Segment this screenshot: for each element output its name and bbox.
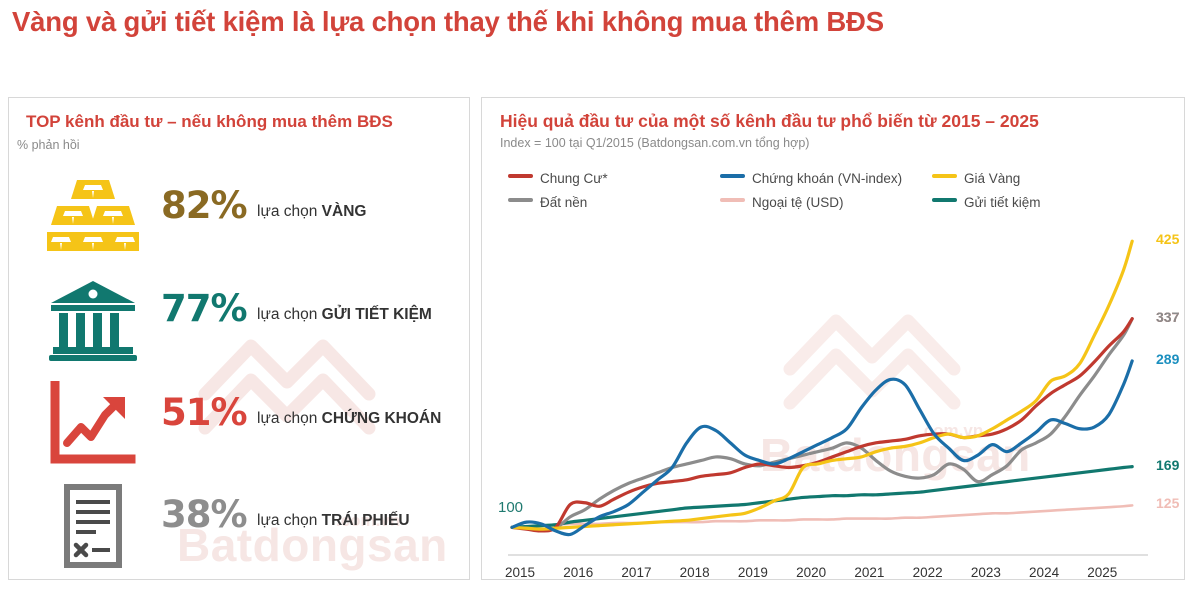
x-axis-tick-label: 2023 (956, 565, 1016, 580)
stat-channel: VÀNG (322, 203, 367, 220)
x-axis-tick-label: 2022 (898, 565, 958, 580)
stat-label: lựa chọn CHỨNG KHOÁN (257, 410, 441, 428)
gold-bars-icon (47, 174, 139, 262)
chart-series-line (512, 319, 1132, 531)
stat-label: lựa chọn TRÁI PHIẾU (257, 512, 410, 530)
left-panel-subtitle: % phản hồi (17, 138, 80, 152)
x-axis-tick-label: 2018 (665, 565, 725, 580)
list-item: 38% lựa chọn TRÁI PHIẾU (9, 483, 470, 580)
x-axis-tick-label: 2015 (490, 565, 550, 580)
stat-percent: 77% (161, 287, 247, 330)
list-item: 77% lựa chọn GỬI TIẾT KIỆM (9, 277, 470, 375)
stat-prefix: lựa chọn (257, 306, 322, 323)
list-item: 82% lựa chọn VÀNG (9, 174, 470, 272)
stat-channel: GỬI TIẾT KIỆM (322, 306, 432, 323)
chart-series-line (512, 319, 1132, 530)
stat-channel: CHỨNG KHOÁN (322, 410, 442, 427)
page-title: Vàng và gửi tiết kiệm là lựa chọn thay t… (12, 6, 1182, 38)
x-axis-tick-label: 2024 (1014, 565, 1074, 580)
stat-prefix: lựa chọn (257, 512, 322, 529)
series-end-value: 169 (1156, 457, 1179, 473)
infographic-page: Vàng và gửi tiết kiệm là lựa chọn thay t… (0, 0, 1193, 591)
stat-label: lựa chọn GỬI TIẾT KIỆM (257, 306, 432, 324)
chart-series-line (512, 361, 1132, 535)
stock-chart-icon (47, 381, 139, 469)
stat-prefix: lựa chọn (257, 203, 322, 220)
stat-prefix: lựa chọn (257, 410, 322, 427)
x-axis-tick-label: 2021 (839, 565, 899, 580)
bank-icon (47, 277, 139, 365)
stat-channel: TRÁI PHIẾU (322, 512, 410, 529)
stat-percent: 51% (161, 391, 247, 434)
series-end-value: 289 (1156, 351, 1179, 367)
x-axis-tick-label: 2016 (548, 565, 608, 580)
series-end-value: 125 (1156, 495, 1179, 511)
investment-performance-panel: Batdongsan .com.vn Hiệu quả đầu tư của m… (481, 97, 1185, 580)
baseline-value-label: 100 (498, 499, 523, 516)
top-channels-panel: Batdongsan .com.vn TOP kênh đầu tư – nếu… (8, 97, 470, 580)
stat-percent: 82% (161, 184, 247, 227)
line-chart-plot (482, 98, 1185, 580)
series-end-value: 425 (1156, 231, 1179, 247)
bond-paper-icon (47, 483, 139, 571)
x-axis-tick-label: 2017 (606, 565, 666, 580)
stat-percent: 38% (161, 493, 247, 536)
list-item: 51% lựa chọn CHỨNG KHOÁN (9, 381, 470, 479)
x-axis-tick-label: 2020 (781, 565, 841, 580)
x-axis-tick-label: 2019 (723, 565, 783, 580)
left-panel-title: TOP kênh đầu tư – nếu không mua thêm BĐS (26, 112, 393, 132)
stat-label: lựa chọn VÀNG (257, 203, 366, 221)
x-axis-tick-label: 2025 (1072, 565, 1132, 580)
chart-series-line (512, 241, 1132, 529)
series-end-value: 337 (1156, 309, 1179, 325)
